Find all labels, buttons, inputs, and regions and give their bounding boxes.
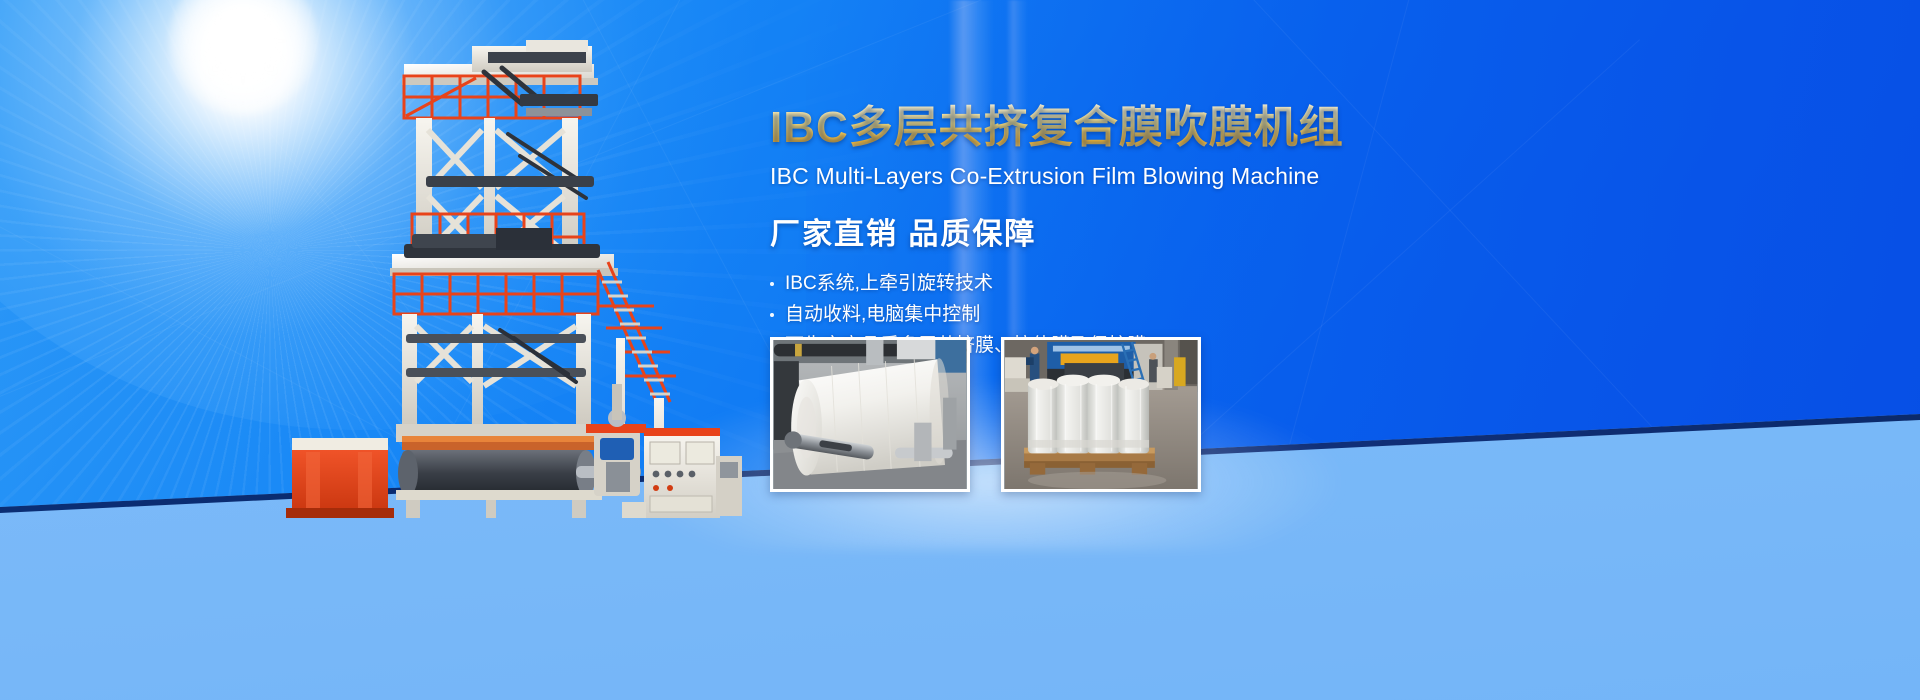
- bullet-dot-icon: [770, 313, 774, 317]
- ibc-film-blowing-machine-photo: [276, 38, 746, 518]
- list-item: 自动收料,电脑集中控制: [770, 299, 1550, 330]
- list-item: IBC系统,上牵引旋转技术: [770, 268, 1550, 299]
- film-rolls-pallet-photo[interactable]: [1001, 337, 1201, 492]
- page-title: IBC多层共挤复合膜吹膜机组: [770, 100, 1550, 156]
- list-item-label: IBC系统,上牵引旋转技术: [785, 268, 993, 299]
- promo-banner: IBC多层共挤复合膜吹膜机组 IBC Multi-Layers Co-Extru…: [0, 0, 1920, 700]
- list-item-label: 自动收料,电脑集中控制: [785, 299, 980, 330]
- page-subtitle: IBC Multi-Layers Co-Extrusion Film Blowi…: [770, 160, 1550, 192]
- thumbnail-gallery: [770, 337, 1201, 492]
- slogan: 厂家直销 品质保障: [770, 214, 1550, 256]
- film-roll-photo[interactable]: [770, 337, 970, 492]
- bullet-dot-icon: [770, 282, 774, 286]
- banner-copy: IBC多层共挤复合膜吹膜机组 IBC Multi-Layers Co-Extru…: [770, 100, 1550, 361]
